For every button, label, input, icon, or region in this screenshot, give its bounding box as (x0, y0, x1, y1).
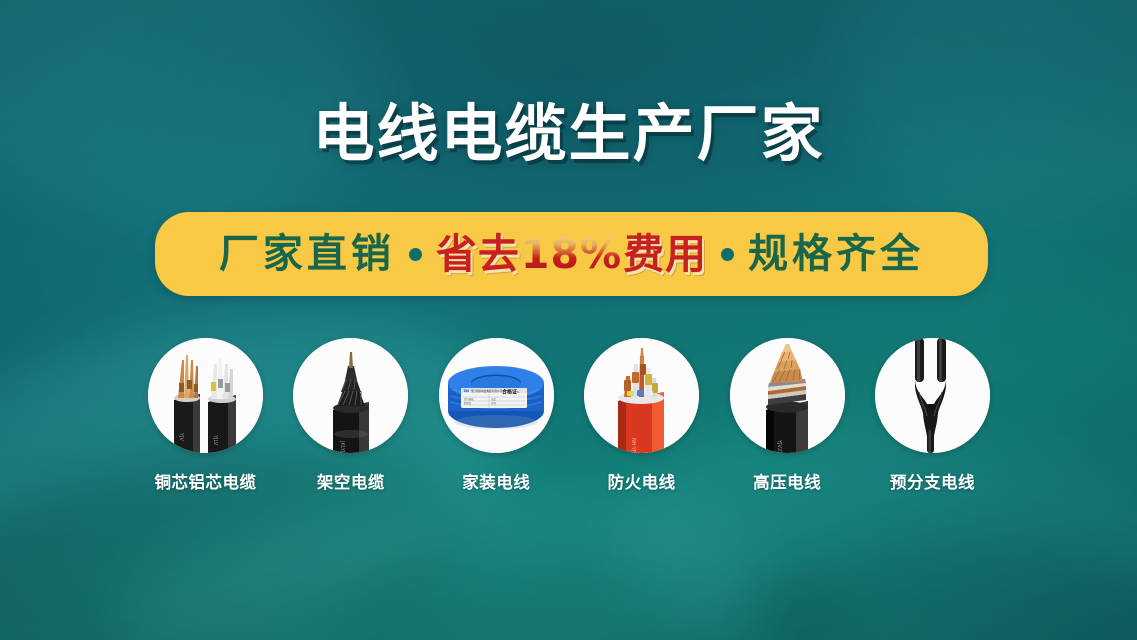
list-item[interactable]: JKLYJ 架空电缆 (293, 338, 408, 492)
pre-branched-cable-icon (875, 338, 990, 453)
promo-highlight-suffix: 费用 (623, 230, 707, 278)
banner-background (0, 0, 1137, 640)
svg-text:YJV22 8.7/15KV: YJV22 8.7/15KV (776, 439, 782, 453)
svg-text:YJLV: YJLV (212, 434, 218, 446)
svg-text:日期: 日期 (491, 401, 496, 405)
product-label: 高压电线 (753, 475, 821, 492)
svg-text:JKLYJ: JKLYJ (339, 440, 345, 452)
list-item[interactable]: 预分支电线 (875, 338, 990, 492)
product-label: 防火电线 (608, 475, 676, 492)
high-voltage-cable-icon: YJV22 8.7/15KV (730, 338, 845, 453)
separator-dot-icon (409, 248, 422, 261)
promo-left-text: 厂家直销 (219, 234, 395, 274)
list-item[interactable]: NH-YJV 防火电线 (584, 338, 699, 492)
svg-text:ZN: ZN (463, 389, 468, 393)
svg-text:检验员: 检验员 (464, 401, 472, 405)
list-item[interactable]: YJV YJLV (148, 338, 263, 492)
product-list: YJV YJLV (148, 338, 990, 492)
fire-resistant-wire-icon: NH-YJV (584, 338, 699, 453)
promo-pill: 厂家直销 省去18%费用 规格齐全 (155, 212, 988, 296)
promo-highlight-prefix: 省去 (436, 230, 520, 278)
svg-text:NH-YJV: NH-YJV (630, 438, 636, 453)
promotional-banner: 电线电缆生产厂家 厂家直销 省去18%费用 规格齐全 (0, 0, 1137, 640)
product-label: 架空电缆 (317, 475, 385, 492)
product-label: 预分支电线 (890, 475, 975, 492)
promo-highlight: 省去18%费用 (436, 234, 707, 275)
svg-text:№: № (517, 391, 520, 394)
separator-dot-icon (721, 248, 734, 261)
svg-text:合格证: 合格证 (501, 389, 517, 396)
home-wiring-coil-icon: ZN 浙江明超电线电缆有限公司 合格证 № 型号规格 长度 检验员 日期 (439, 338, 554, 453)
product-label: 铜芯铝芯电缆 (155, 475, 257, 492)
promo-highlight-percent: 18% (520, 230, 623, 278)
promo-right-text: 规格齐全 (748, 234, 924, 274)
svg-text:浙江明超电线电缆有限公司: 浙江明超电线电缆有限公司 (471, 389, 503, 393)
overhead-cable-icon: JKLYJ (293, 338, 408, 453)
list-item[interactable]: YJV22 8.7/15KV 高压电线 (730, 338, 845, 492)
list-item[interactable]: ZN 浙江明超电线电缆有限公司 合格证 № 型号规格 长度 检验员 日期 家装电… (439, 338, 554, 492)
svg-text:型号规格: 型号规格 (464, 397, 474, 401)
page-title: 电线电缆生产厂家 (0, 101, 1137, 166)
svg-text:YJV: YJV (178, 432, 184, 442)
product-label: 家装电线 (462, 475, 530, 492)
svg-text:长度: 长度 (491, 397, 496, 401)
copper-aluminum-core-cable-icon: YJV YJLV (148, 338, 263, 453)
